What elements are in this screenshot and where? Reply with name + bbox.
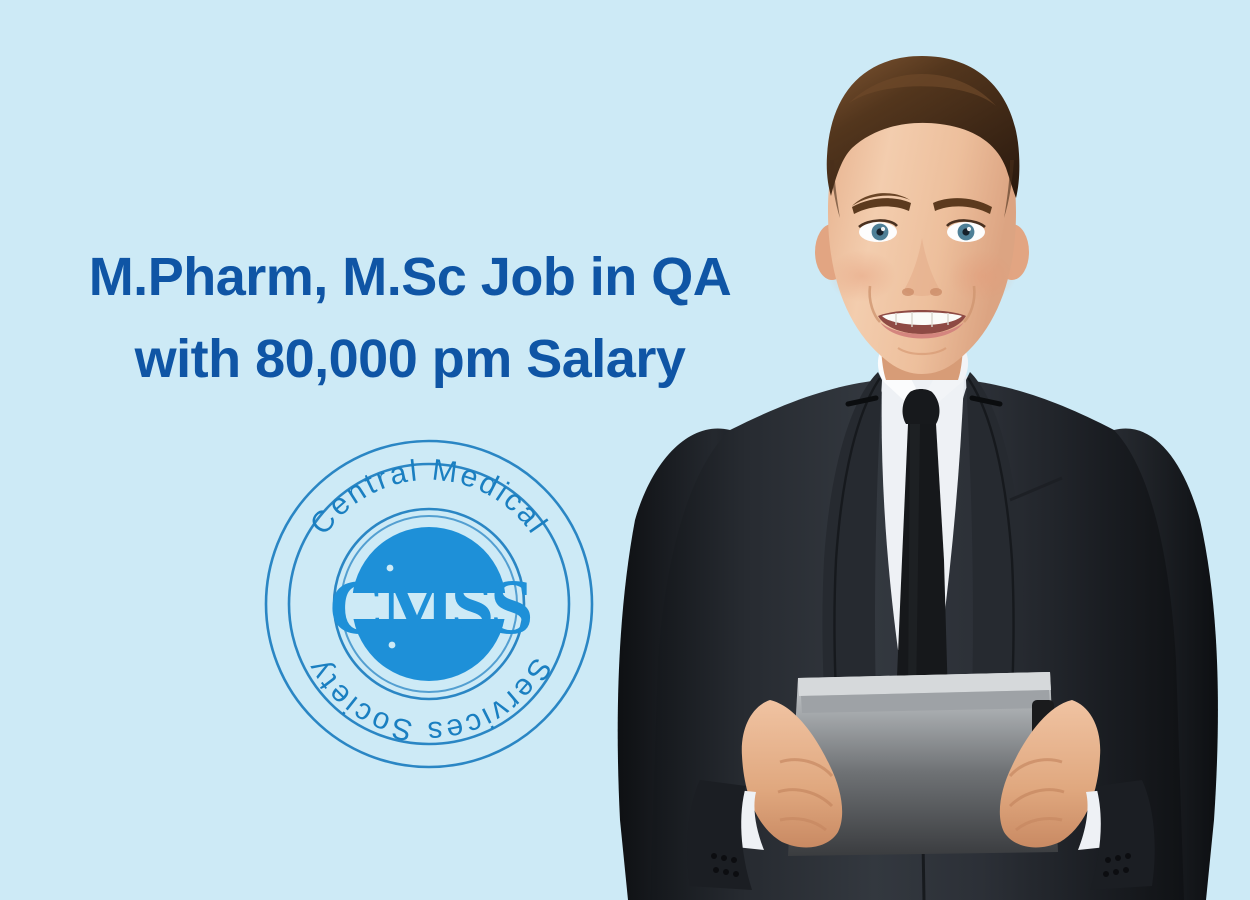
cmss-logo: Central Medical Services Society CMSS <box>262 437 596 771</box>
page-title: M.Pharm, M.Sc Job in QA with 80,000 pm S… <box>0 236 820 400</box>
headline-line-2: with 80,000 pm Salary <box>0 318 820 400</box>
logo-acronym: CMSS <box>329 563 531 650</box>
poster-canvas: M.Pharm, M.Sc Job in QA with 80,000 pm S… <box>0 0 1250 900</box>
businessman-with-tablet <box>580 0 1250 900</box>
headline-line-1: M.Pharm, M.Sc Job in QA <box>0 236 820 318</box>
